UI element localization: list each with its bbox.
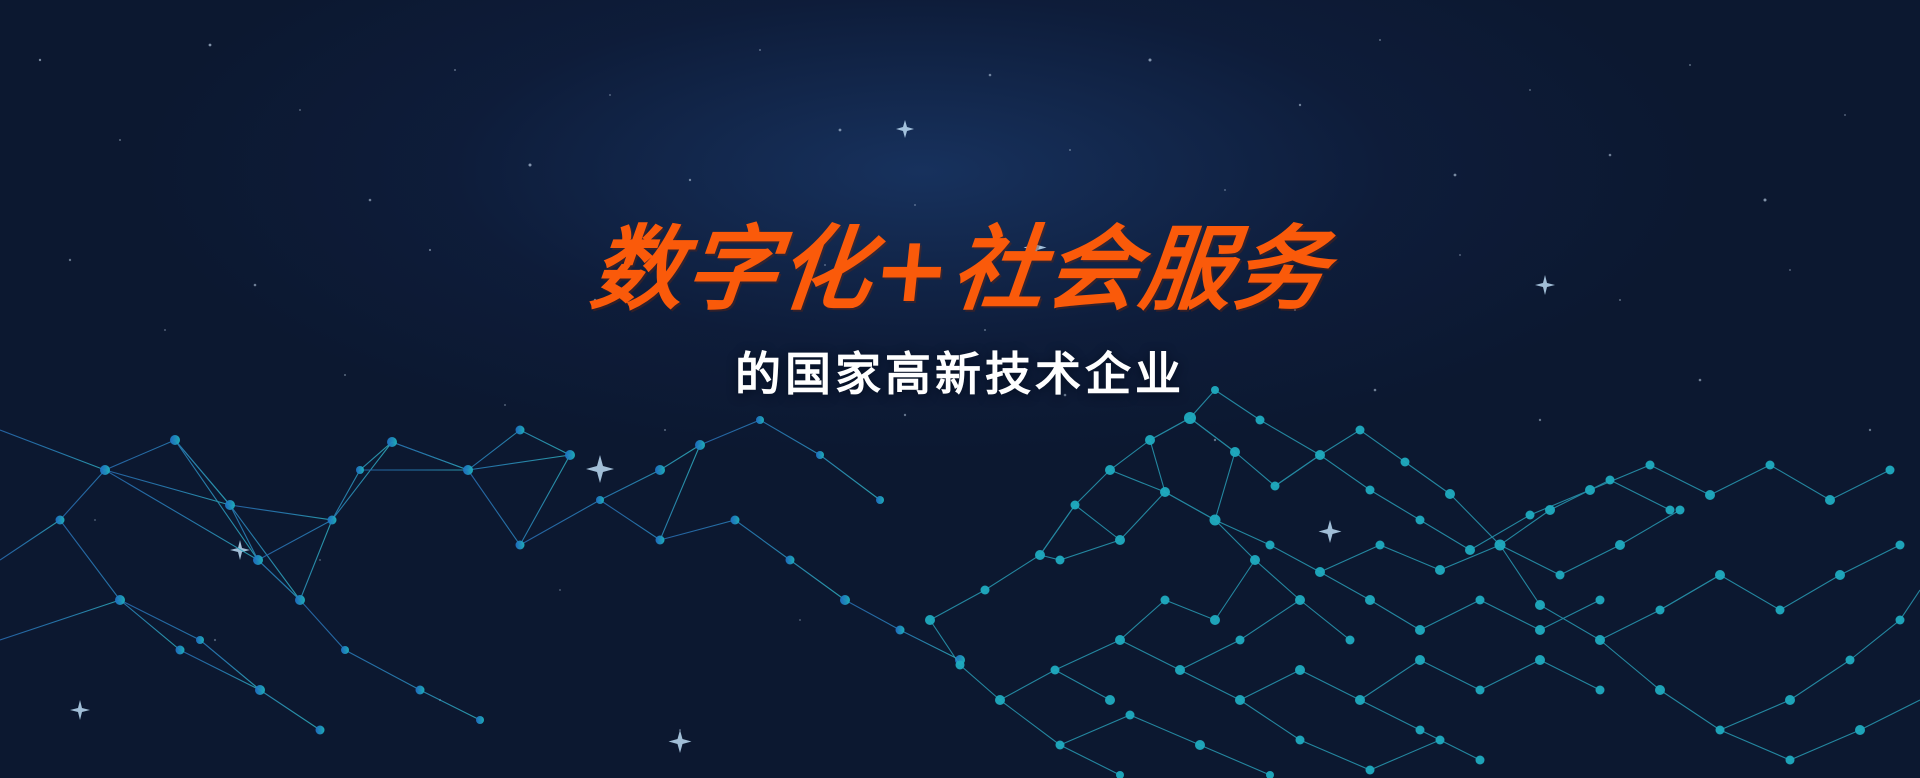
network-mesh-map [0,0,1920,778]
hero-banner: 数字化+社会服务 的国家高新技术企业 [0,0,1920,778]
